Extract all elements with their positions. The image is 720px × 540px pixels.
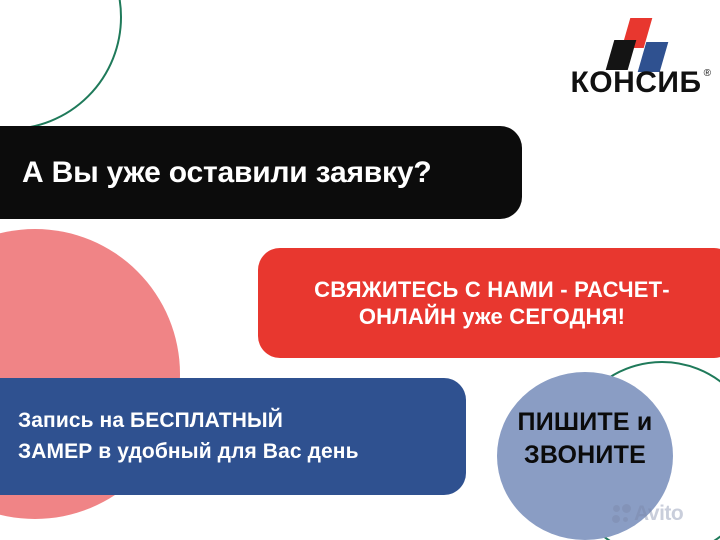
- call-to-action-line-1: ПИШИТЕ и: [518, 408, 653, 436]
- logo-mark-group: [596, 18, 682, 70]
- booking-banner: Запись на БЕСПЛАТНЫЙ ЗАМЕР в удобный для…: [0, 378, 466, 495]
- company-logo: КОНСИБ ®: [560, 18, 712, 104]
- contact-banner: СВЯЖИТЕСЬ С НАМИ - РАСЧЕТ- ОНЛАЙН уже СЕ…: [258, 248, 720, 358]
- logo-wordmark: КОНСИБ: [560, 68, 712, 98]
- registered-trademark-icon: ®: [704, 68, 711, 79]
- question-banner-text: А Вы уже оставили заявку?: [22, 156, 431, 190]
- promo-banner-canvas: КОНСИБ ® А Вы уже оставили заявку? СВЯЖИ…: [0, 0, 720, 540]
- decorative-circle-outline-top-left: [0, 0, 122, 130]
- contact-banner-line-1: СВЯЖИТЕСЬ С НАМИ - РАСЧЕТ-: [314, 277, 670, 302]
- question-banner: А Вы уже оставили заявку?: [0, 126, 522, 219]
- contact-banner-line-2: ОНЛАЙН уже СЕГОДНЯ!: [359, 304, 625, 329]
- booking-banner-line-2: ЗАМЕР в удобный для Вас день: [18, 440, 359, 463]
- contact-banner-text: СВЯЖИТЕСЬ С НАМИ - РАСЧЕТ- ОНЛАЙН уже СЕ…: [282, 276, 702, 331]
- avito-dots-icon: [612, 504, 632, 524]
- booking-banner-text: Запись на БЕСПЛАТНЫЙ ЗАМЕР в удобный для…: [18, 406, 359, 467]
- avito-watermark-label: Avito: [634, 503, 683, 524]
- call-to-action-text: ПИШИТЕ и ЗВОНИТЕ: [497, 406, 673, 472]
- booking-banner-line-1: Запись на БЕСПЛАТНЫЙ: [18, 409, 283, 432]
- avito-watermark: Avito: [612, 503, 683, 524]
- call-to-action-line-2: ЗВОНИТЕ: [524, 441, 646, 469]
